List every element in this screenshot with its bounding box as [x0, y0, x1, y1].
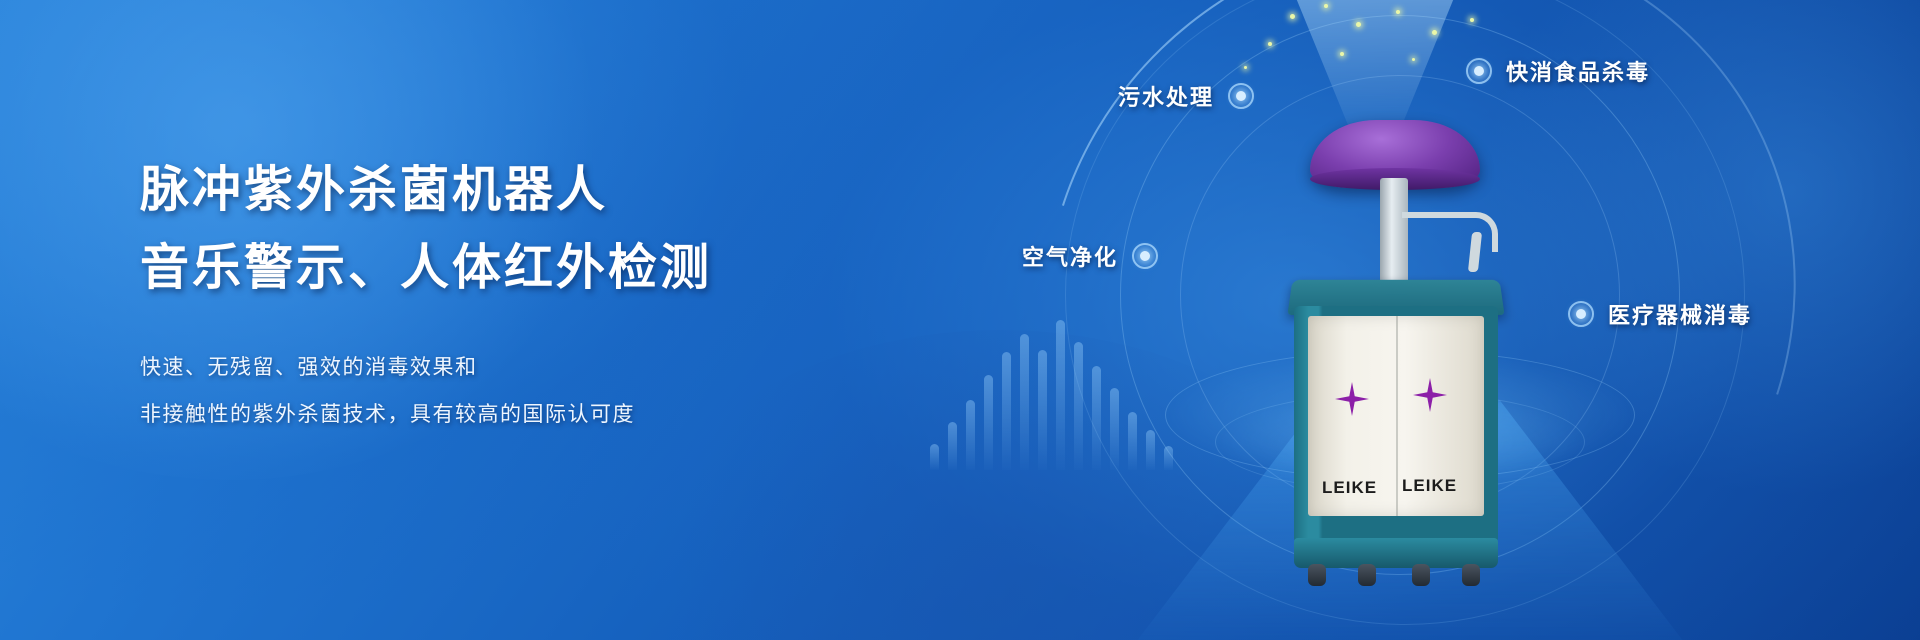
hotspot-wastewater[interactable]: 污水处理	[1118, 80, 1254, 112]
sparkle-particle	[1268, 42, 1272, 46]
hotspot-air[interactable]: 空气净化	[1022, 240, 1158, 272]
brand-label-left: LEIKE	[1322, 478, 1377, 498]
hotspot-food[interactable]: 快消食品杀毒	[1466, 55, 1650, 87]
promo-banner: 脉冲紫外杀菌机器人 音乐警示、人体红外检测 快速、无残留、强效的消毒效果和 非接…	[0, 0, 1920, 640]
headline-line-2: 音乐警示、人体红外检测	[140, 228, 860, 306]
equalizer-bar	[984, 375, 993, 470]
equalizer-bar	[1020, 334, 1029, 470]
subtext-line-1: 快速、无残留、强效的消毒效果和	[140, 344, 860, 391]
equalizer-bar	[948, 422, 957, 470]
equalizer-bar	[1002, 352, 1011, 470]
hotspot-dot-icon	[1132, 243, 1158, 269]
sparkle-particle	[1396, 10, 1400, 14]
sparkle-particle	[1244, 66, 1247, 69]
sparkle-particle	[1412, 58, 1415, 61]
hotspot-label: 污水处理	[1118, 80, 1214, 112]
hotspot-label: 医疗器械消毒	[1608, 298, 1752, 330]
equalizer-bar	[966, 400, 975, 470]
sparkle-particle	[1470, 18, 1474, 22]
push-handle	[1402, 212, 1498, 252]
subtext-line-2: 非接触性的紫外杀菌技术，具有较高的国际认可度	[140, 391, 860, 438]
equalizer-bar	[930, 444, 939, 470]
sparkle-particle	[1290, 14, 1295, 19]
caster-wheel	[1358, 564, 1376, 586]
hotspot-label: 快消食品杀毒	[1506, 55, 1650, 87]
caster-wheel	[1412, 564, 1430, 586]
sparkle-particle	[1324, 4, 1328, 8]
hotspot-dot-icon	[1568, 301, 1594, 327]
sparkle-particle	[1432, 30, 1437, 35]
hotspot-dot-icon	[1228, 83, 1254, 109]
sparkle-particle	[1356, 22, 1361, 27]
banner-copy: 脉冲紫外杀菌机器人 音乐警示、人体红外检测 快速、无残留、强效的消毒效果和 非接…	[140, 150, 860, 438]
hotspot-medical[interactable]: 医疗器械消毒	[1568, 298, 1752, 330]
hotspot-label: 空气净化	[1022, 240, 1118, 272]
sparkle-particle	[1340, 52, 1344, 56]
equalizer-bar	[1038, 350, 1047, 470]
caster-wheel	[1308, 564, 1326, 586]
banner-subtext: 快速、无残留、强效的消毒效果和 非接触性的紫外杀菌技术，具有较高的国际认可度	[140, 344, 860, 438]
uv-disinfection-robot: LEIKE LEIKE	[1280, 120, 1510, 570]
headline-line-1: 脉冲紫外杀菌机器人	[140, 150, 860, 228]
brand-label-right: LEIKE	[1402, 476, 1457, 496]
hotspot-dot-icon	[1466, 58, 1492, 84]
caster-wheel	[1462, 564, 1480, 586]
panel-divider	[1396, 316, 1398, 516]
